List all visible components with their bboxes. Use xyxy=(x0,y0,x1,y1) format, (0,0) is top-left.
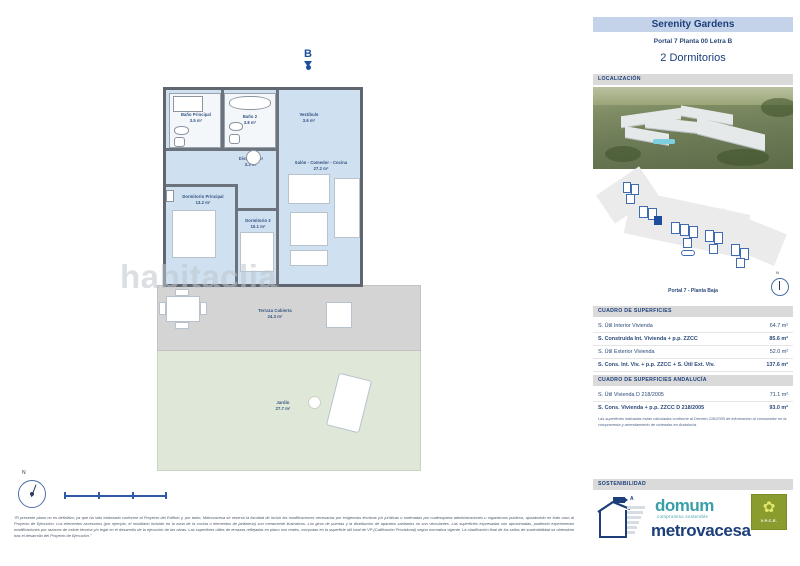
terrace-chair xyxy=(200,302,207,315)
sink xyxy=(174,126,189,135)
scale-tick xyxy=(98,492,100,499)
site-building xyxy=(689,226,698,238)
room-label-dormitorio-principal: Dormitorio Principal 13.2 m² xyxy=(172,194,234,205)
surface-value: 93.0 m² xyxy=(769,405,788,411)
surface-row-andalucia: S. Útil Vivienda D 218/2005 71.1 m² xyxy=(593,388,793,402)
energy-rating-arrow-tip xyxy=(624,497,628,503)
unit-letter: B xyxy=(295,49,321,60)
site-building xyxy=(709,244,718,254)
house-body-icon xyxy=(599,510,627,538)
surface-value: 85.6 m² xyxy=(769,336,788,342)
surface-value: 52.0 m² xyxy=(770,349,788,355)
site-building xyxy=(680,224,689,236)
site-plan-caption: Portal 7 - Planta Baja xyxy=(593,288,793,294)
garden-zone: Jardín 27.7 m² xyxy=(157,347,421,471)
kitchen-counter xyxy=(334,178,360,238)
scale-tick xyxy=(64,492,66,499)
surfaces-note: Las superficies indicadas están calculad… xyxy=(598,416,788,428)
site-building xyxy=(626,194,635,204)
terrace-table xyxy=(166,296,200,322)
dining-table xyxy=(288,174,330,204)
energy-bars-icon xyxy=(627,506,647,538)
info-panel: Serenity Gardens Portal 7 Planta 00 Letr… xyxy=(585,0,800,566)
wall xyxy=(166,184,238,187)
site-pool xyxy=(681,250,695,256)
site-compass-icon xyxy=(771,278,789,296)
surface-row-andalucia: S. Cons. Vivienda + p.p. ZZCC D 218/2005… xyxy=(593,401,793,414)
toilet xyxy=(174,137,185,147)
sofa xyxy=(290,212,328,246)
floor-plan-sheet: B Jardín 27.7 m² xyxy=(0,0,800,566)
site-compass-needle xyxy=(779,281,780,290)
section-header-superficies: CUADRO DE SUPERFICIES xyxy=(593,306,793,317)
aerial-photo xyxy=(593,87,793,169)
site-plan xyxy=(593,172,793,282)
scale-tick xyxy=(132,492,134,499)
photo-vegetation xyxy=(717,149,769,165)
compass-icon xyxy=(18,480,46,508)
domum-logo: domum xyxy=(655,497,714,514)
wall xyxy=(235,208,279,211)
door-swing xyxy=(246,150,261,165)
site-building xyxy=(639,206,648,218)
terrace-side-table xyxy=(326,302,352,328)
section-header-sostenibilidad: SOSTENIBILIDAD xyxy=(593,479,793,490)
wall xyxy=(276,148,279,184)
surface-label: S. Útil Exterior Vivienda xyxy=(598,349,655,355)
toilet xyxy=(229,134,240,144)
plan-area: B Jardín 27.7 m² xyxy=(0,0,585,566)
surface-row: S. Construida Int. Vivienda + p.p. ZZCC … xyxy=(593,332,793,346)
unit-letter-dot xyxy=(306,65,311,70)
project-title-bar: Serenity Gardens xyxy=(593,17,793,32)
site-building xyxy=(623,182,631,193)
bathtub xyxy=(229,96,271,110)
surface-label: S. Cons. Vivienda + p.p. ZZCC D 218/2005 xyxy=(598,405,704,411)
surface-value: 64.7 m² xyxy=(770,323,788,329)
room-label-salon: Salón - Comedor - Cocina 27.2 m² xyxy=(280,160,362,171)
domum-tagline: compromiso sostenible xyxy=(657,514,708,519)
scale-bar xyxy=(64,492,167,499)
surface-label: S. Construida Int. Vivienda + p.p. ZZCC xyxy=(598,336,698,342)
shower-tray xyxy=(173,96,203,112)
room-label-jardin: Jardín 27.7 m² xyxy=(253,400,313,411)
wardrobe xyxy=(166,190,174,202)
photo-vegetation xyxy=(761,98,793,116)
photo-pool xyxy=(653,139,675,144)
unit-letter-marker: B xyxy=(295,49,321,70)
surface-label: S. Útil Vivienda D 218/2005 xyxy=(598,392,664,398)
north-label: N xyxy=(22,470,26,476)
energy-rating-letter: A xyxy=(630,496,634,502)
surface-row: S. Útil Interior Vivienda 64.7 m² xyxy=(593,319,793,333)
scale-line xyxy=(64,495,167,497)
room-label-vestibulo: Vestíbulo 3.6 m² xyxy=(286,112,332,123)
section-header-localizacion: LOCALIZACIÓN xyxy=(593,74,793,85)
room-label-dormitorio-2: Dormitorio 2 10.1 m² xyxy=(238,218,278,229)
photo-vegetation xyxy=(605,146,641,162)
dwelling-outline: Baño Principal 3.5 m² Baño 2 3.8 m² Vest… xyxy=(163,87,363,287)
surface-row: S. Útil Exterior Vivienda 52.0 m² xyxy=(593,345,793,359)
project-title: Serenity Gardens xyxy=(593,17,793,32)
terrace-chair xyxy=(159,302,166,315)
energy-house-icon: A xyxy=(597,496,649,540)
scale-tick xyxy=(165,492,167,499)
site-building xyxy=(671,222,680,234)
surface-row: S. Cons. Int. Viv. + p.p. ZZCC + S. Útil… xyxy=(593,358,793,372)
logo-row: A domum compromiso sostenible metrovaces… xyxy=(593,492,793,544)
compass-center-dot xyxy=(30,492,34,496)
site-building xyxy=(683,238,692,248)
tv-unit xyxy=(290,250,328,266)
bedrooms-count: 2 Dormitorios xyxy=(593,52,793,64)
site-building-highlighted xyxy=(654,216,662,225)
surface-value: 137.6 m² xyxy=(766,362,788,368)
terrace-chair xyxy=(175,322,189,329)
site-building xyxy=(705,230,714,242)
site-building xyxy=(731,244,740,256)
room-label-bano-principal: Baño Principal 3.5 m² xyxy=(174,112,218,123)
vpce-badge-label: V.P.C.E. xyxy=(752,518,786,523)
wall xyxy=(166,148,224,151)
sun-lounger xyxy=(326,373,372,434)
flower-icon: ✿ xyxy=(759,499,779,517)
unit-line: Portal 7 Planta 00 Letra B xyxy=(593,38,793,45)
site-north-label: N xyxy=(776,270,779,275)
site-building xyxy=(736,258,745,268)
room-label-bano-2: Baño 2 3.8 m² xyxy=(228,114,272,125)
vpce-badge: ✿ V.P.C.E. xyxy=(751,494,787,530)
room-label-terraza: Terraza Cubierta 24.3 m² xyxy=(240,308,310,319)
surface-label: S. Cons. Int. Viv. + p.p. ZZCC + S. Útil… xyxy=(598,362,715,368)
surface-value: 71.1 m² xyxy=(770,392,788,398)
watermark: habitaclia xyxy=(120,258,277,296)
section-header-superficies-andalucia: CUADRO DE SUPERFICIES ANDALUCÍA xyxy=(593,375,793,386)
legal-disclaimer: "El presente plano no es definitivo, ya … xyxy=(14,515,574,539)
surface-label: S. Útil Interior Vivienda xyxy=(598,323,653,329)
wall xyxy=(276,90,279,151)
site-building xyxy=(714,232,723,244)
bed-main xyxy=(172,210,216,258)
metrovacesa-logo: metrovacesa xyxy=(651,522,751,539)
